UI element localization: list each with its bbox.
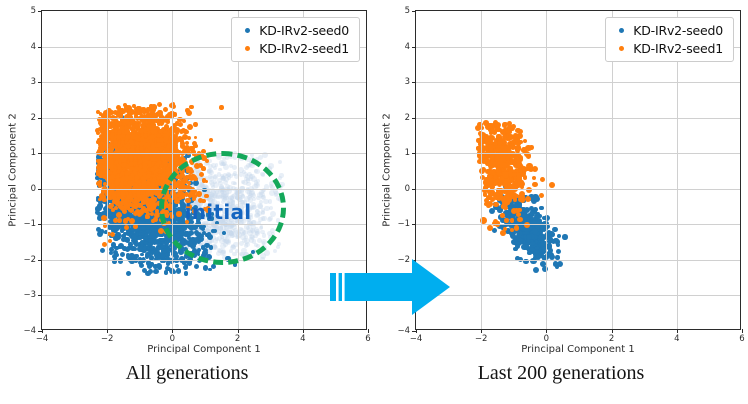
scatter-point (113, 142, 118, 147)
scatter-point (547, 243, 553, 249)
x-tick (172, 329, 173, 333)
panel-all-generations: −4−3−2−1012345−4−20246initialKD-IRv2-see… (0, 0, 374, 404)
scatter-point (173, 251, 178, 256)
scatter-point (140, 137, 145, 142)
x-tick (42, 329, 43, 333)
y-tick (38, 189, 42, 190)
scatter-point (165, 167, 170, 172)
scatter-point (487, 225, 493, 231)
panel-last-200-generations: −4−3−2−1012345−4−20246KD-IRv2-seed0KD-IR… (374, 0, 748, 404)
scatter-point (109, 110, 113, 114)
gridline-horizontal (42, 82, 366, 83)
scatter-point (155, 179, 161, 185)
scatter-point (120, 252, 125, 257)
scatter-point (100, 248, 105, 253)
scatter-point (182, 119, 186, 123)
scatter-point (145, 197, 149, 201)
y-tick (38, 153, 42, 154)
scatter-point (278, 160, 282, 164)
scatter-point (113, 218, 118, 223)
scatter-point (159, 137, 165, 143)
scatter-point (277, 242, 281, 246)
initial-annotation-label: initial (185, 200, 252, 224)
legend-marker-icon (245, 46, 250, 51)
scatter-point (547, 230, 551, 234)
scatter-point (143, 162, 148, 167)
scatter-point (532, 228, 538, 234)
scatter-point (140, 253, 144, 257)
scatter-point (192, 141, 197, 146)
scatter-point (151, 196, 155, 200)
scatter-point (556, 249, 562, 255)
scatter-point (153, 217, 157, 221)
scatter-point (124, 237, 129, 242)
scatter-point (164, 240, 169, 245)
legend-entry[interactable]: KD-IRv2-seed1 (239, 41, 349, 56)
scatter-point (539, 206, 543, 210)
scatter-point (114, 225, 120, 231)
scatter-point (116, 233, 120, 237)
scatter-point (114, 246, 118, 250)
scatter-point (115, 178, 120, 183)
scatter-point (183, 265, 188, 270)
scatter-point (219, 105, 223, 109)
scatter-point (142, 179, 147, 184)
y-tick-label: 5 (31, 6, 36, 16)
scatter-point (168, 154, 172, 158)
x-tick-label: 4 (300, 334, 305, 344)
x-tick-label: 2 (235, 334, 240, 344)
scatter-point (128, 208, 132, 212)
scatter-point (96, 110, 100, 114)
x-axis-title-left: Principal Component 1 (41, 344, 367, 355)
x-tick (368, 329, 369, 333)
y-tick (38, 260, 42, 261)
scatter-point (515, 244, 521, 250)
scatter-point (109, 247, 114, 252)
scatter-point (96, 131, 100, 135)
scatter-point (129, 199, 133, 203)
scatter-point (185, 130, 189, 134)
y-tick-label: 3 (31, 77, 36, 87)
scatter-point (162, 160, 167, 165)
scatter-point (533, 207, 538, 212)
scatter-point (102, 128, 106, 132)
scatter-point (130, 173, 135, 178)
scatter-point (114, 160, 119, 165)
y-tick (38, 118, 42, 119)
scatter-point (164, 270, 168, 274)
scatter-point (182, 134, 188, 140)
y-tick-label: 2 (31, 113, 36, 123)
scatter-point (541, 255, 546, 260)
legend-label: KD-IRv2-seed0 (259, 23, 349, 38)
scatter-point (100, 159, 104, 163)
y-tick-label: 0 (31, 184, 36, 194)
scatter-point (114, 253, 119, 258)
scatter-point (117, 218, 121, 222)
scatter-point (120, 195, 125, 200)
scatter-point (540, 177, 545, 182)
y-tick-label: −3 (23, 290, 36, 300)
y-tick-label: −4 (23, 326, 36, 336)
scatter-point (141, 226, 146, 231)
y-tick (38, 224, 42, 225)
scatter-point (122, 246, 127, 251)
y-tick (38, 295, 42, 296)
scatter-point (126, 130, 130, 134)
x-tick-label: −4 (36, 334, 49, 344)
scatter-point (151, 184, 155, 188)
scatter-point (98, 172, 103, 177)
scatter-point (134, 112, 138, 116)
scatter-point (99, 193, 104, 198)
x-tick-label: 0 (170, 334, 175, 344)
x-tick (303, 329, 304, 333)
x-tick (107, 329, 108, 333)
scatter-point (150, 212, 154, 216)
scatter-point (98, 180, 103, 185)
y-tick (38, 47, 42, 48)
y-axis-title-left: Principal Component 2 (8, 60, 19, 280)
scatter-point (131, 234, 136, 239)
scatter-point (163, 107, 168, 112)
legend: KD-IRv2-seed0KD-IRv2-seed1 (231, 17, 360, 62)
scatter-point (126, 254, 132, 260)
scatter-point (132, 104, 136, 108)
y-tick-label: 1 (31, 148, 36, 158)
scatter-point (123, 200, 128, 205)
pca-comparison-figure: −4−3−2−1012345−4−20246initialKD-IRv2-see… (0, 0, 748, 404)
scatter-point (276, 245, 280, 249)
scatter-point (118, 204, 122, 208)
scatter-point (110, 135, 114, 139)
scatter-point (258, 155, 264, 161)
scatter-point (101, 142, 105, 146)
scatter-point (101, 122, 105, 126)
scatter-point (273, 249, 278, 254)
y-tick-label: 4 (31, 42, 36, 52)
gridline-horizontal (42, 295, 366, 296)
scatter-point (130, 120, 134, 124)
scatter-point (155, 250, 160, 255)
scatter-point (186, 110, 192, 116)
scatter-point (157, 102, 163, 108)
scatter-point (535, 254, 541, 260)
scatter-point (203, 265, 209, 271)
scatter-point (176, 268, 182, 274)
scatter-point (557, 261, 563, 267)
scatter-point (209, 138, 213, 142)
scatter-point (492, 228, 497, 233)
scatter-point (156, 263, 162, 269)
scatter-point (151, 145, 156, 150)
scatter-point (194, 264, 199, 269)
gridline-horizontal (42, 118, 366, 119)
scatter-point (533, 267, 539, 273)
scatter-point (98, 203, 104, 209)
scatter-point (150, 134, 156, 140)
scatter-point (194, 136, 198, 140)
scatter-point (193, 122, 198, 127)
scatter-point (127, 108, 133, 114)
scatter-point (141, 109, 146, 114)
scatter-point (557, 234, 561, 238)
scatter-point (123, 232, 127, 236)
x-tick-label: 6 (365, 334, 370, 344)
x-tick (238, 329, 239, 333)
scatter-point (184, 271, 188, 275)
scatter-point (151, 180, 155, 184)
scatter-point (140, 244, 144, 248)
scatter-point (101, 215, 107, 221)
scatter-point (109, 148, 113, 152)
scatter-point (500, 213, 505, 218)
y-tick (38, 11, 42, 12)
scatter-point (187, 124, 193, 130)
scatter-point (134, 166, 139, 171)
scatter-point (539, 242, 544, 247)
scatter-point (189, 105, 194, 110)
scatter-point (130, 126, 135, 131)
scatter-point (160, 118, 165, 123)
scatter-point (494, 202, 499, 207)
scatter-point (149, 126, 153, 130)
scatter-point (189, 146, 194, 151)
gridline-vertical (107, 11, 108, 329)
scatter-point (166, 261, 170, 265)
scatter-point (126, 271, 131, 276)
y-tick (38, 82, 42, 83)
plot-area-left: −4−3−2−1012345−4−20246initialKD-IRv2-see… (41, 10, 367, 330)
plot-area-right: −4−3−2−1012345−4−20246KD-IRv2-seed0KD-IR… (415, 10, 741, 330)
legend-marker-icon (245, 28, 250, 33)
scatter-point (556, 243, 560, 247)
y-tick-label: −2 (23, 255, 36, 265)
scatter-point (260, 253, 266, 259)
scatter-point (552, 227, 558, 233)
scatter-point (116, 212, 122, 218)
scatter-point (208, 268, 212, 272)
scatter-point (553, 261, 558, 266)
scatter-point (551, 239, 556, 244)
legend-entry[interactable]: KD-IRv2-seed0 (239, 23, 349, 38)
scatter-point (110, 174, 115, 179)
scatter-point (117, 121, 122, 126)
x-tick-label: −2 (101, 334, 114, 344)
scatter-point (157, 160, 162, 165)
scatter-point (532, 166, 538, 172)
scatter-point (562, 234, 567, 239)
scatter-point (523, 175, 527, 179)
legend-label: KD-IRv2-seed1 (259, 41, 349, 56)
scatter-point (489, 208, 495, 214)
scatter-point (180, 143, 186, 149)
scatter-point (116, 134, 121, 139)
scatter-point (153, 165, 159, 171)
scatter-point (530, 241, 535, 246)
scatter-point (161, 248, 167, 254)
y-tick-label: −1 (23, 219, 36, 229)
scatter-point (125, 143, 131, 149)
scatter-point (187, 136, 191, 140)
scatter-point (150, 232, 155, 237)
scatter-point (143, 174, 147, 178)
